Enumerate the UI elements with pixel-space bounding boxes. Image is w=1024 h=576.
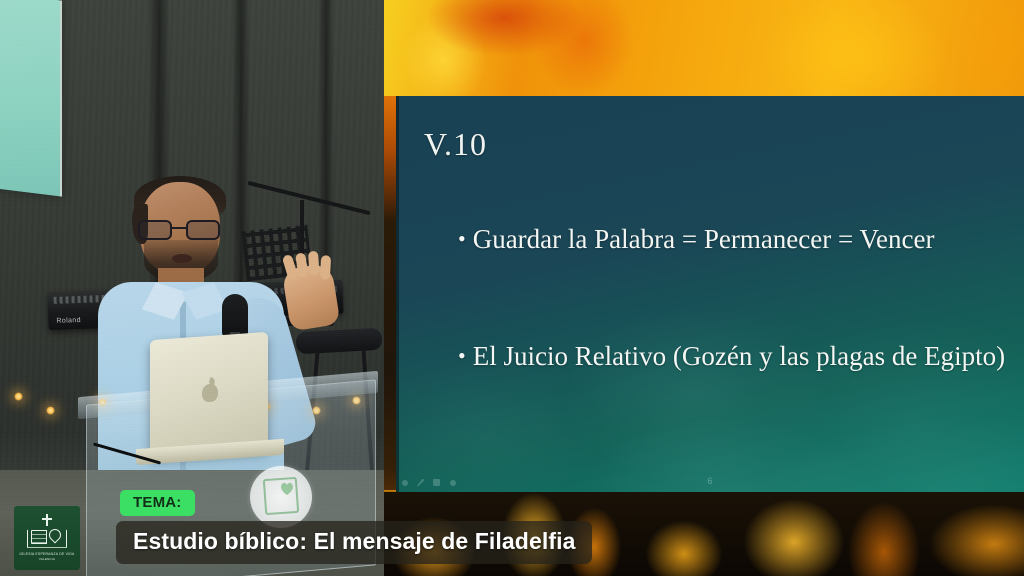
bullet-marker-icon: • [458, 226, 466, 251]
church-logo-caption: IGLESIA ESPERANZA DE VIDA VALENCIA [19, 552, 74, 562]
finger [308, 251, 320, 276]
presentation-slide[interactable]: V.10 •Guardar la Palabra = Permanecer = … [396, 96, 1024, 492]
slide-left-edge [396, 96, 399, 492]
podium-logo-mark [263, 477, 299, 515]
apple-logo-icon [202, 383, 218, 402]
speaker-mouth [172, 254, 192, 263]
slide-bullet-2: •El Juicio Relativo (Gozén y las plagas … [458, 341, 1005, 372]
church-logo-caption-line2: VALENCIA [19, 557, 74, 562]
church-logo-caption-line1: IGLESIA ESPERANZA DE VIDA [19, 552, 74, 556]
slide-page-number: 6 [396, 476, 1024, 486]
eyeglass-lens-left [138, 220, 172, 240]
cross-icon [46, 514, 48, 526]
cross-icon-bar [42, 518, 52, 520]
podium-logo-sticker [250, 466, 312, 528]
church-logo: IGLESIA ESPERANZA DE VIDA VALENCIA [14, 506, 80, 570]
eyeglasses-icon [138, 220, 224, 240]
bullet-marker-icon: • [458, 343, 466, 368]
slide-wave-decoration [396, 292, 1024, 492]
open-book-icon [31, 530, 47, 544]
fire-background-top [384, 0, 1024, 100]
macbook-laptop [150, 332, 268, 458]
topic-badge: TEMA: [120, 490, 195, 516]
lower-third-title: Estudio bíblico: El mensaje de Filadelfi… [116, 521, 592, 564]
slide-bullet-1: •Guardar la Palabra = Permanecer = Vence… [458, 224, 934, 255]
eyeglass-bridge [172, 227, 186, 229]
stream-screenshot: V.10 •Guardar la Palabra = Permanecer = … [0, 0, 1024, 576]
slide-title: V.10 [424, 126, 487, 163]
string-light [46, 406, 55, 415]
finger [320, 255, 331, 279]
church-logo-mark [24, 515, 70, 549]
string-light [14, 392, 23, 401]
stool-seat [295, 328, 382, 354]
slide-bullet-2-text: El Juicio Relativo (Gozén y las plagas d… [473, 341, 1005, 371]
eyeglass-lens-right [186, 220, 220, 240]
slide-bullet-1-text: Guardar la Palabra = Permanecer = Vencer [473, 224, 935, 254]
projection-screen: ) [0, 0, 62, 197]
keyboard-brand-label: Roland [56, 317, 81, 325]
